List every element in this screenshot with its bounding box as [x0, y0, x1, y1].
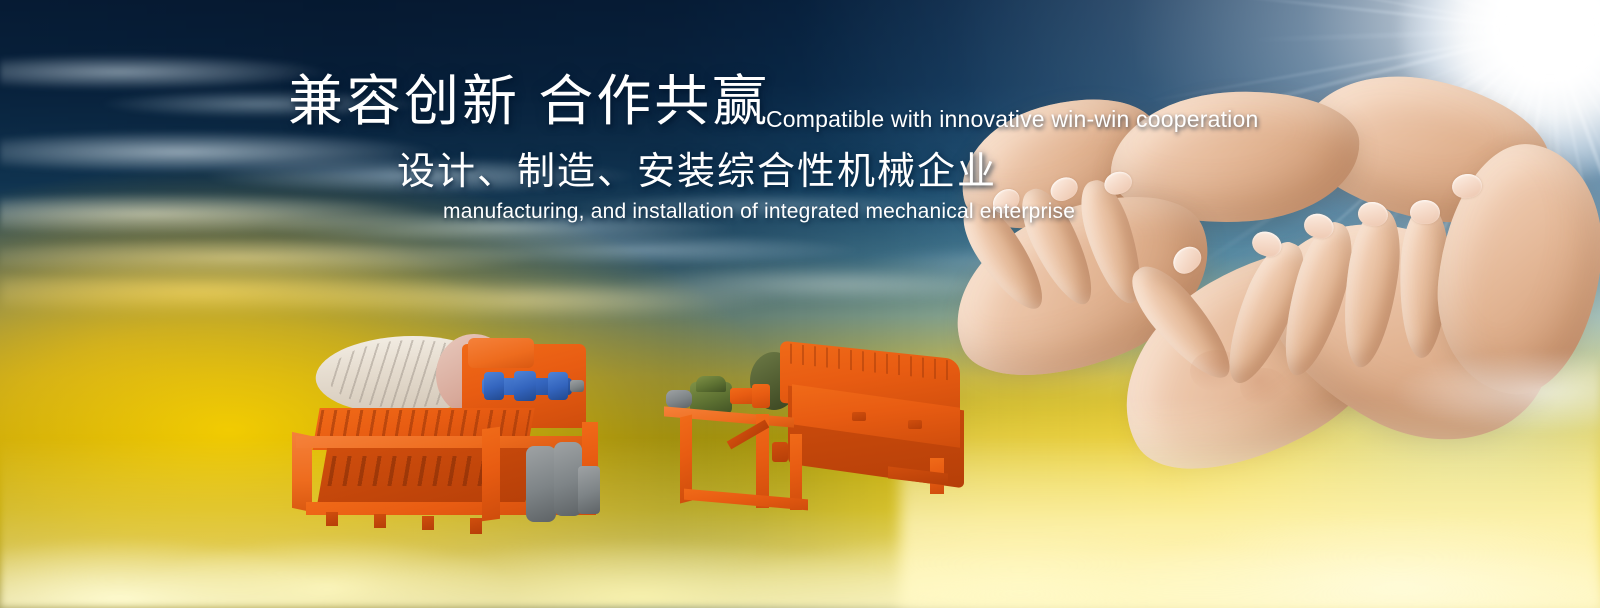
headline-english: Compatible with innovative win-win coope… [766, 105, 1258, 133]
subline-chinese: 设计、制造、安装综合性机械企业 [397, 149, 997, 195]
headline-chinese: 兼容创新 合作共赢 [288, 70, 770, 132]
promotional-banner: 兼容创新 合作共赢 Compatible with innovative win… [0, 0, 1600, 608]
subline-english: manufacturing, and installation of integ… [443, 199, 1075, 225]
banner-text-block: 兼容创新 合作共赢 Compatible with innovative win… [0, 0, 1600, 608]
